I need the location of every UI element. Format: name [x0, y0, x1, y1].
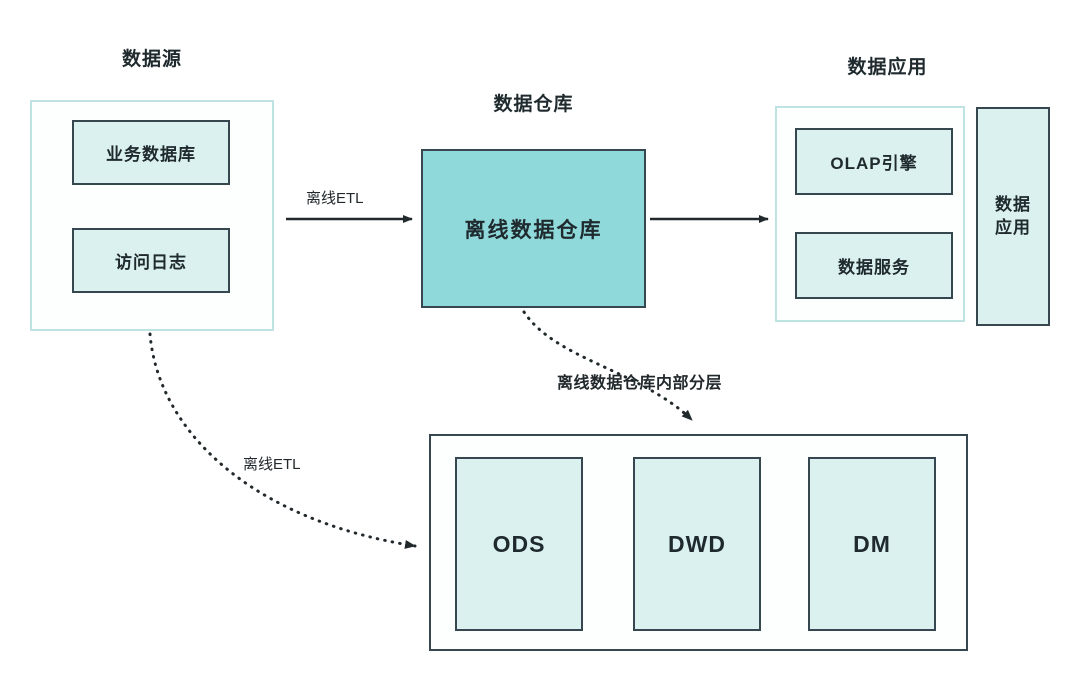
node-offline-data-warehouse[interactable]: 离线数据仓库	[421, 149, 646, 308]
node-data-service[interactable]: 数据服务	[795, 232, 953, 299]
edge-label-source-to-warehouse: 离线ETL	[306, 187, 364, 208]
node-data-application-output-line2: 应用	[995, 217, 1031, 240]
node-business-database[interactable]: 业务数据库	[72, 120, 230, 185]
diagram-canvas: 数据源 数据仓库 数据应用 业务数据库 访问日志 离线数据仓库 OLAP引擎 数…	[0, 0, 1080, 681]
node-access-log[interactable]: 访问日志	[72, 228, 230, 293]
edge-warehouse-to-layers	[524, 312, 692, 420]
edge-label-warehouse-to-layers: 离线数据仓库内部分层	[557, 369, 722, 393]
node-olap-engine[interactable]: OLAP引擎	[795, 128, 953, 195]
node-data-application-output[interactable]: 数据 应用	[976, 107, 1050, 326]
node-layer-dm[interactable]: DM	[808, 457, 936, 631]
group-title-warehouse: 数据仓库	[421, 89, 646, 116]
group-title-source: 数据源	[30, 44, 274, 71]
node-layer-dwd[interactable]: DWD	[633, 457, 761, 631]
edge-label-source-to-ods: 离线ETL	[243, 453, 301, 474]
node-data-application-output-line1: 数据	[995, 194, 1031, 217]
edge-source-to-ods	[150, 334, 415, 546]
node-layer-ods[interactable]: ODS	[455, 457, 583, 631]
group-title-application: 数据应用	[775, 52, 1000, 79]
